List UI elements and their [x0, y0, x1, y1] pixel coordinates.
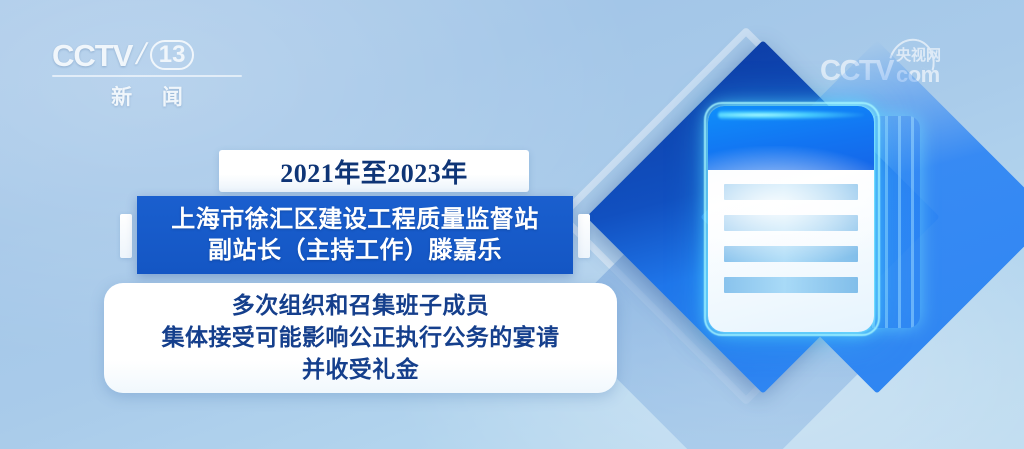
- document-icon: [708, 106, 874, 332]
- logo-channel-number: 13: [150, 40, 195, 70]
- cctv-13-logo: CCTV / 13 新 闻: [52, 38, 242, 110]
- banner-right-accent-tab: [578, 214, 590, 258]
- document-text-line: [724, 215, 858, 231]
- logo-slash-icon: /: [134, 40, 150, 70]
- logo-top-row: CCTV / 13: [52, 38, 242, 72]
- banner-left-accent-tab: [120, 214, 132, 258]
- document-top-glow: [718, 110, 864, 120]
- logo-divider-rule: [52, 75, 242, 77]
- detail-line-1: 多次组织和召集班子成员: [232, 290, 489, 322]
- office-title-banner: 上海市徐汇区建设工程质量监督站 副站长（主持工作）滕嘉乐: [137, 196, 573, 274]
- date-range-banner: 2021年至2023年: [219, 150, 529, 192]
- document-diamond-illustration: [600, 0, 1024, 449]
- detail-line-3: 并收受礼金: [302, 354, 419, 386]
- document-text-line: [724, 246, 858, 262]
- person-title-line: 副站长（主持工作）滕嘉乐: [208, 235, 502, 266]
- detail-line-2: 集体接受可能影响公正执行公务的宴请: [162, 322, 560, 354]
- document-body: [708, 170, 874, 293]
- violation-detail-card: 多次组织和召集班子成员 集体接受可能影响公正执行公务的宴请 并收受礼金: [104, 283, 617, 393]
- broadcast-graphic-frame: CCTV / 13 新 闻 CCTV 央视网 com: [0, 0, 1024, 449]
- logo-channel-name: 新 闻: [52, 81, 242, 111]
- office-name-line: 上海市徐汇区建设工程质量监督站: [171, 204, 539, 235]
- date-range-text: 2021年至2023年: [280, 153, 468, 190]
- logo-network-text: CCTV: [52, 40, 132, 71]
- document-text-line: [724, 277, 858, 293]
- document-text-line: [724, 184, 858, 200]
